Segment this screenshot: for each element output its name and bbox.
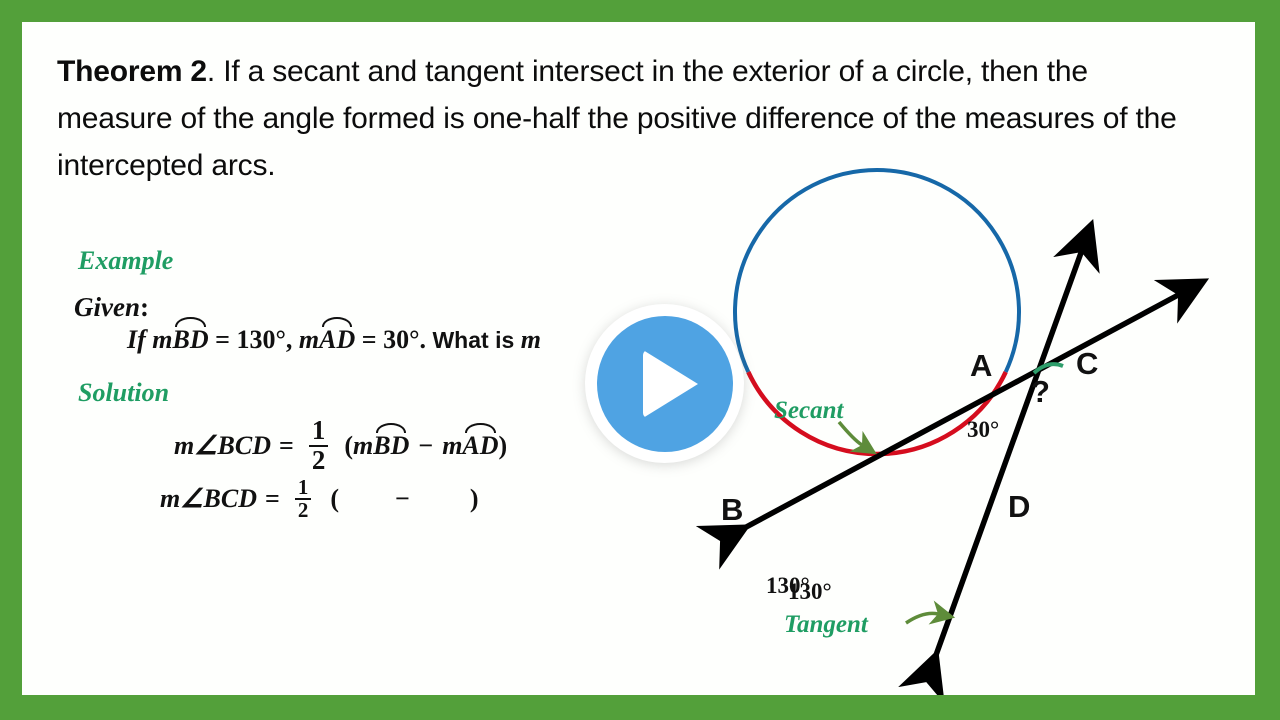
point-label-D: D <box>1008 489 1030 525</box>
unknown-angle-label: ? <box>1031 374 1050 410</box>
slide-canvas: Theorem 2. If a secant and tangent inter… <box>22 22 1255 695</box>
point-label-A: A <box>970 348 992 384</box>
play-button-circle[interactable] <box>597 316 733 452</box>
play-button[interactable] <box>585 304 744 463</box>
secant-annotation: Secant <box>774 397 843 425</box>
arc-measure-130-b: 130° <box>788 579 832 605</box>
secant-pointer-arrow-icon <box>839 422 862 445</box>
tangent-line <box>927 250 1082 680</box>
point-label-C: C <box>1076 346 1098 382</box>
tangent-annotation: Tangent <box>784 611 868 639</box>
arc-measure-30: 30° <box>967 417 999 443</box>
tangent-pointer-arrow-icon <box>906 613 938 623</box>
play-triangle-icon <box>643 350 698 418</box>
point-label-B: B <box>721 492 743 528</box>
blue-arc-BA <box>735 170 1019 372</box>
